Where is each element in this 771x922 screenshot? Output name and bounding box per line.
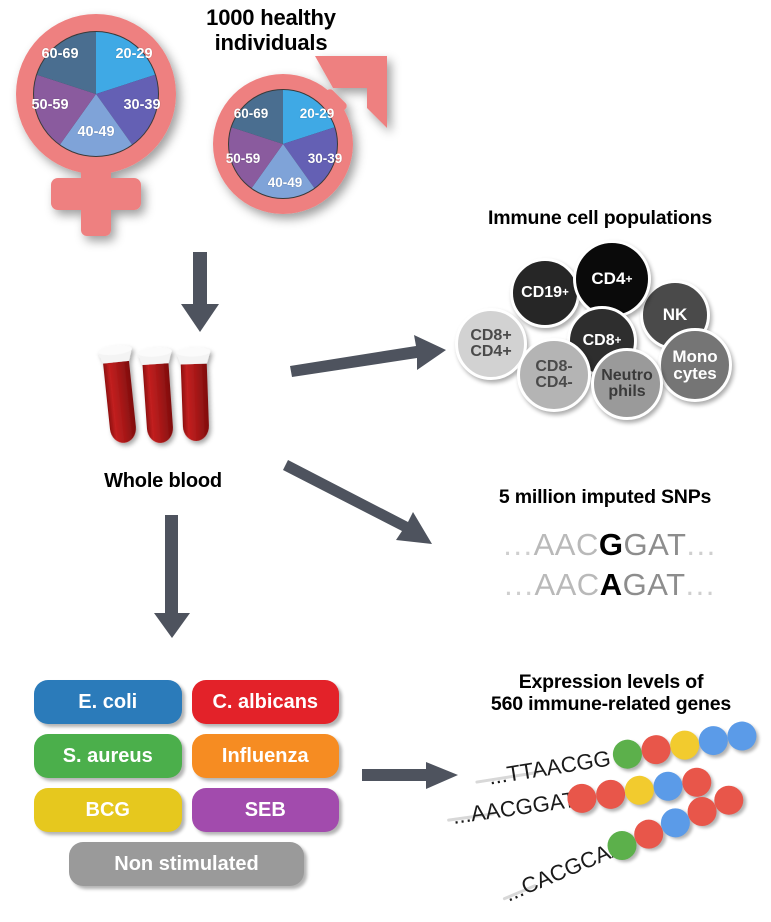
blood-tubes-group — [95, 340, 235, 470]
arrow-down-cohort-to-blood — [178, 252, 222, 334]
stimulus-label: Non stimulated — [114, 853, 258, 876]
snp-sequences-group: ...AACGGAT... ...AACAGAT... — [470, 525, 750, 604]
snp-left-bases: AAC — [534, 567, 599, 602]
stimulus-seb[interactable]: SEB — [192, 788, 340, 832]
snp-prefix-dots: ... — [504, 567, 534, 602]
snp-sequence-row: ...AACAGAT... — [470, 565, 750, 605]
immune-cell-cd8pos-cd4pos: CD8+ CD4+ — [455, 308, 527, 380]
gene-bead — [611, 738, 644, 771]
gene-expression-strands-group: ...TTAACGG ...AACGGAT ...CACGCAA — [455, 745, 771, 910]
cell-label: CD8 — [583, 333, 615, 349]
strand-sequence-text: ...AACGGAT — [451, 787, 578, 830]
arrow-stimuli-to-expression — [362, 757, 462, 797]
snp-variant-base: G — [599, 527, 624, 562]
cell-label: CD4 — [591, 270, 625, 287]
stimulus-s-aureus[interactable]: S. aureus — [34, 734, 182, 778]
strand-sequence-text: ...TTAACGG — [487, 746, 613, 791]
cell-label: Mono cytes — [672, 348, 717, 383]
cell-label: NK — [663, 306, 688, 323]
arrow-blood-to-snps — [286, 452, 446, 552]
stimuli-row: BCG SEB — [34, 788, 339, 832]
immune-cell-neutrophils: Neutro phils — [591, 348, 663, 420]
stimuli-panel: E. coli C. albicans S. aureus Influenza … — [34, 680, 339, 886]
label-whole-blood: Whole blood — [68, 470, 258, 492]
gene-bead — [623, 774, 656, 807]
stimulus-label: S. aureus — [63, 745, 153, 768]
stimulus-label: C. albicans — [212, 691, 318, 714]
cell-label: CD8+ CD4+ — [470, 328, 511, 361]
immune-cell-populations-group: CD8+ CD4+ NK CD19+ CD4+ CD8+ Mono cytes … — [455, 238, 765, 423]
gene-bead — [725, 719, 758, 752]
snp-suffix-dots: ... — [686, 527, 716, 562]
gene-bead — [639, 733, 672, 766]
stimulus-e-coli[interactable]: E. coli — [34, 680, 182, 724]
stimulus-c-albicans[interactable]: C. albicans — [192, 680, 340, 724]
gene-bead — [680, 766, 713, 799]
diagram-canvas: 1000 healthy individuals Immune cell pop… — [0, 0, 771, 922]
immune-cell-cd8neg-cd4neg: CD8- CD4- — [517, 338, 591, 412]
blood-tube — [97, 344, 141, 445]
gene-bead — [697, 724, 730, 757]
cell-label: CD8- CD4- — [535, 359, 572, 392]
male-gender-symbol: 20-29 30-39 40-49 50-59 60-69 — [205, 48, 400, 248]
stimulus-bcg[interactable]: BCG — [34, 788, 182, 832]
stimuli-row: S. aureus Influenza — [34, 734, 339, 778]
cell-label: Neutro phils — [601, 368, 653, 401]
section-title-snps: 5 million imputed SNPs — [450, 487, 760, 509]
female-gender-symbol: 20-29 30-39 40-49 50-59 60-69 — [8, 6, 218, 246]
section-title-expression: Expression levels of 560 immune-related … — [452, 672, 770, 716]
arrow-down-blood-to-stimuli — [150, 515, 194, 640]
snp-variant-base: A — [600, 567, 623, 602]
stimuli-row: E. coli C. albicans — [34, 680, 339, 724]
blood-tube — [176, 347, 213, 442]
immune-cell-cd4pos: CD4+ — [573, 240, 651, 318]
immune-cell-cd19pos: CD19+ — [510, 258, 580, 328]
snp-suffix-dots: ... — [686, 567, 716, 602]
gene-bead — [652, 770, 685, 803]
stimulus-label: SEB — [245, 799, 286, 822]
snp-left-bases: AAC — [534, 527, 599, 562]
snp-sequence-row: ...AACGGAT... — [470, 525, 750, 565]
arrow-blood-to-immune-cells — [288, 330, 448, 380]
blood-tube — [137, 346, 178, 444]
stimulus-label: BCG — [86, 799, 130, 822]
gene-bead — [594, 778, 627, 811]
snp-right-bases: GAT — [623, 527, 686, 562]
snp-prefix-dots: ... — [503, 527, 533, 562]
immune-cell-monocytes: Mono cytes — [658, 328, 732, 402]
cell-label: CD19 — [521, 285, 562, 301]
section-title-immune-cells: Immune cell populations — [440, 208, 760, 230]
stimulus-influenza[interactable]: Influenza — [192, 734, 340, 778]
stimulus-label: E. coli — [78, 691, 137, 714]
snp-right-bases: GAT — [623, 567, 686, 602]
gene-bead — [668, 729, 701, 762]
stimulus-label: Influenza — [222, 745, 309, 768]
stimulus-non-stimulated[interactable]: Non stimulated — [69, 842, 304, 886]
stimuli-row: Non stimulated — [34, 842, 339, 886]
